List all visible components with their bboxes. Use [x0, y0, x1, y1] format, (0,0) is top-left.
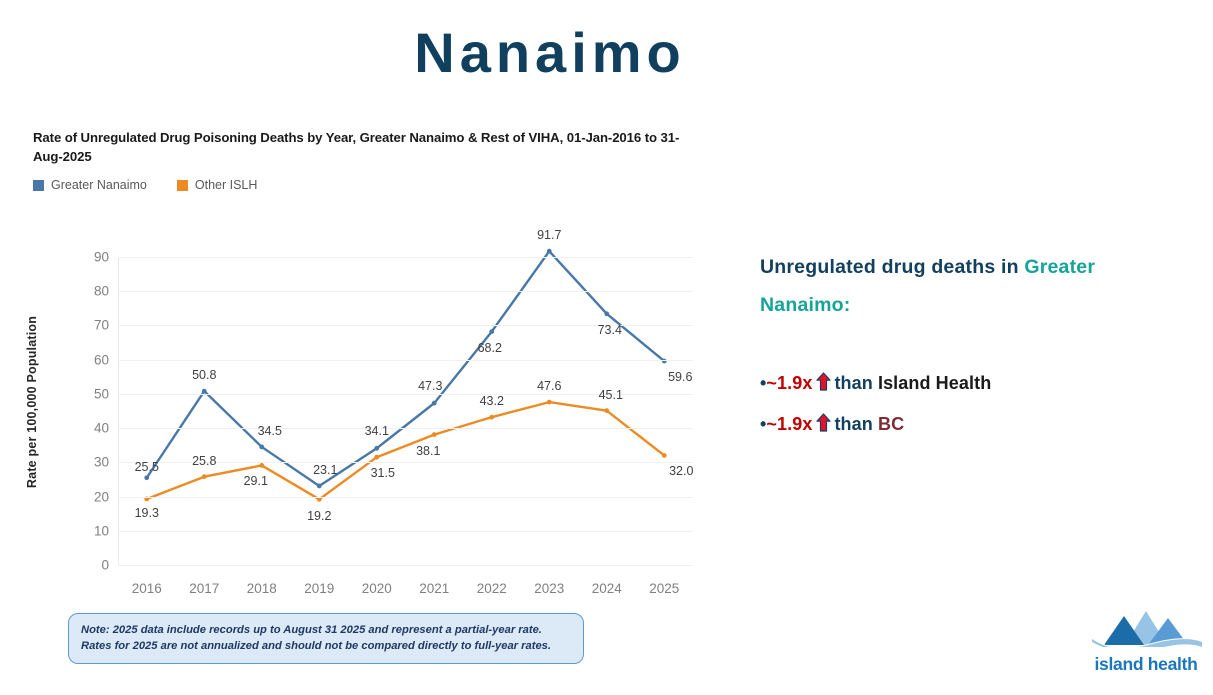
gridline — [118, 565, 693, 566]
data-point — [489, 329, 494, 334]
gridline — [118, 428, 693, 429]
y-axis-tick-label: 90 — [94, 250, 109, 265]
data-point — [144, 475, 149, 480]
data-point-label: 19.2 — [307, 509, 331, 523]
legend-label: Other ISLH — [195, 178, 258, 192]
data-point — [547, 400, 552, 405]
data-point — [202, 389, 207, 394]
y-axis-tick-label: 0 — [101, 558, 109, 573]
legend-swatch-icon — [33, 180, 44, 191]
data-point-label: 25.5 — [135, 460, 159, 474]
up-arrow-icon — [816, 407, 831, 446]
chart-footnote: Note: 2025 data include records up to Au… — [68, 613, 584, 664]
y-axis-tick-label: 30 — [94, 455, 109, 470]
gridline — [118, 291, 693, 292]
data-point-label: 19.3 — [135, 506, 159, 520]
data-point-label: 34.5 — [258, 424, 282, 438]
data-point — [317, 497, 322, 502]
bullet-multiplier: ~1.9x — [766, 414, 812, 434]
data-point — [259, 463, 264, 468]
bullet-target: BC — [878, 414, 904, 434]
y-axis-tick-label: 20 — [94, 489, 109, 504]
data-point-label: 34.1 — [365, 424, 389, 438]
bullet-comparator: than — [834, 373, 872, 393]
y-axis-tick-label: 80 — [94, 284, 109, 299]
data-point-label: 43.2 — [480, 394, 504, 408]
summary-bullet-list: •~1.9xthan Island Health •~1.9xthan BC — [760, 364, 1180, 446]
summary-heading: Unregulated drug deaths in Greater Nanai… — [760, 248, 1180, 324]
bullet-comparator: than — [834, 414, 872, 434]
series-line — [147, 251, 665, 486]
gridline — [118, 497, 693, 498]
x-axis-tick-label: 2019 — [304, 581, 334, 596]
x-axis-tick-label: 2023 — [534, 581, 564, 596]
data-point-label: 31.5 — [371, 466, 395, 480]
data-point — [489, 415, 494, 420]
data-point — [374, 455, 379, 460]
data-point — [317, 484, 322, 489]
legend-item-other-islh: Other ISLH — [177, 178, 258, 192]
x-axis-tick-label: 2018 — [247, 581, 277, 596]
data-point — [604, 311, 609, 316]
data-point-label: 73.4 — [598, 323, 622, 337]
data-point — [547, 249, 552, 254]
data-point — [662, 453, 667, 458]
x-axis-tick-label: 2025 — [649, 581, 679, 596]
data-point-label: 23.1 — [313, 463, 337, 477]
bullet-multiplier: ~1.9x — [766, 373, 812, 393]
data-point-label: 50.8 — [192, 368, 216, 382]
x-axis-tick-label: 2016 — [132, 581, 162, 596]
x-axis-tick-label: 2022 — [477, 581, 507, 596]
page-title: Nanaimo — [0, 22, 1100, 84]
bullet-target: Island Health — [878, 373, 991, 393]
x-axis-tick-label: 2024 — [592, 581, 622, 596]
summary-panel: Unregulated drug deaths in Greater Nanai… — [760, 248, 1180, 447]
plot-area: 0102030405060708090201620172018201920202… — [118, 257, 693, 565]
data-point-label: 32.0 — [669, 464, 693, 478]
y-axis-tick-label: 50 — [94, 386, 109, 401]
y-axis-tick-label: 60 — [94, 352, 109, 367]
y-axis-tick-label: 40 — [94, 421, 109, 436]
chart-header: Rate of Unregulated Drug Poisoning Death… — [33, 128, 713, 192]
x-axis-tick-label: 2021 — [419, 581, 449, 596]
island-health-logo: island health — [1086, 607, 1206, 681]
legend-item-greater-nanaimo: Greater Nanaimo — [33, 178, 147, 192]
x-axis-tick-label: 2020 — [362, 581, 392, 596]
gridline — [118, 531, 693, 532]
series-line — [147, 402, 665, 499]
data-point — [374, 446, 379, 451]
data-point-label: 45.1 — [599, 388, 623, 402]
data-point — [432, 432, 437, 437]
logo-wordmark: island health — [1086, 654, 1206, 675]
y-axis-title: Rate per 100,000 Population — [25, 232, 43, 572]
gridline — [118, 360, 693, 361]
data-point-label: 47.3 — [418, 379, 442, 393]
data-point — [604, 408, 609, 413]
data-point — [259, 445, 264, 450]
gridline — [118, 257, 693, 258]
legend-label: Greater Nanaimo — [51, 178, 147, 192]
data-point-label: 25.8 — [192, 454, 216, 468]
list-item: •~1.9xthan Island Health — [760, 364, 1180, 405]
data-point-label: 68.2 — [478, 341, 502, 355]
up-arrow-icon — [816, 366, 831, 405]
data-point-label: 38.1 — [416, 444, 440, 458]
data-point-label: 59.6 — [668, 370, 692, 384]
data-point-label: 47.6 — [537, 379, 561, 393]
chart-lines — [118, 257, 693, 565]
data-point — [202, 474, 207, 479]
y-axis-tick-label: 70 — [94, 318, 109, 333]
data-point — [432, 401, 437, 406]
data-point-label: 91.7 — [537, 228, 561, 242]
chart-plot: Rate per 100,000 Population 010203040506… — [33, 232, 713, 582]
x-axis-tick-label: 2017 — [189, 581, 219, 596]
data-point-label: 29.1 — [244, 474, 268, 488]
chart-title: Rate of Unregulated Drug Poisoning Death… — [33, 128, 698, 166]
summary-heading-lead: Unregulated drug deaths in — [760, 256, 1024, 278]
legend-swatch-icon — [177, 180, 188, 191]
y-axis-tick-label: 10 — [94, 523, 109, 538]
chart-legend: Greater Nanaimo Other ISLH — [33, 178, 713, 192]
list-item: •~1.9xthan BC — [760, 405, 1180, 446]
mountain-logo-icon — [1086, 607, 1206, 657]
